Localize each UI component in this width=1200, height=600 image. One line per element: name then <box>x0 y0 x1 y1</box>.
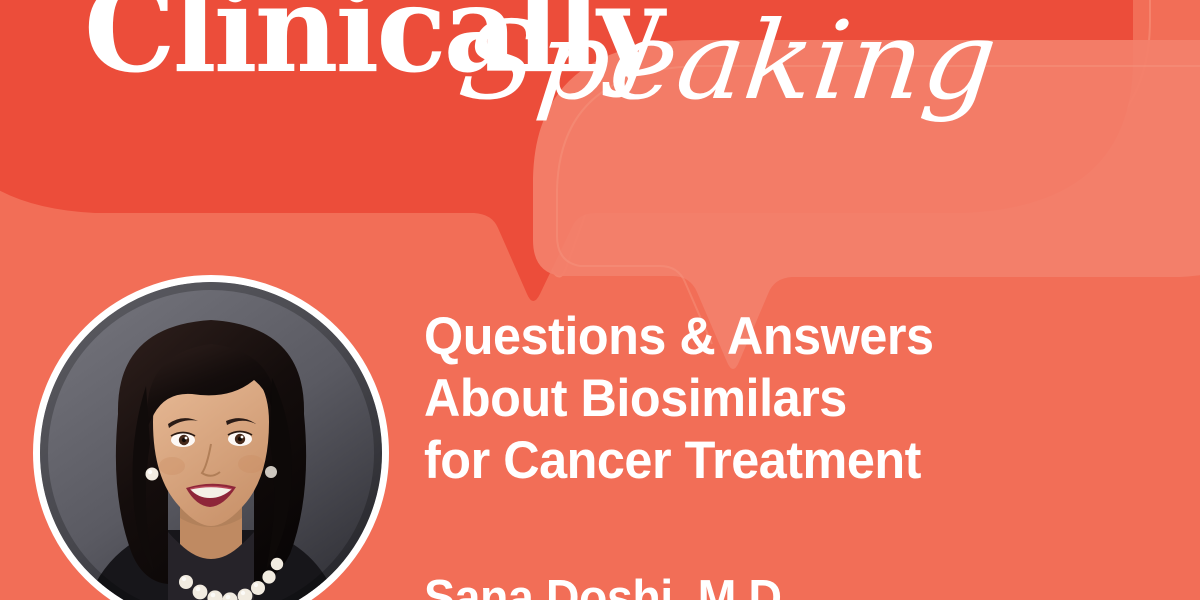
speaker-credit-block: Sana Doshi, M.D. <box>424 574 1124 600</box>
speaker-name: Sana Doshi, M.D. <box>424 574 1089 600</box>
headline-line-1: Questions & Answers <box>424 306 1089 368</box>
headline-block: Questions & Answers About Biosimilars fo… <box>424 306 1124 492</box>
portrait-illustration <box>40 282 382 600</box>
headline-line-2: About Biosimilars <box>424 368 1089 430</box>
headline-line-3: for Cancer Treatment <box>424 430 1089 492</box>
slide-canvas: Clinically Speaking <box>0 0 1200 600</box>
